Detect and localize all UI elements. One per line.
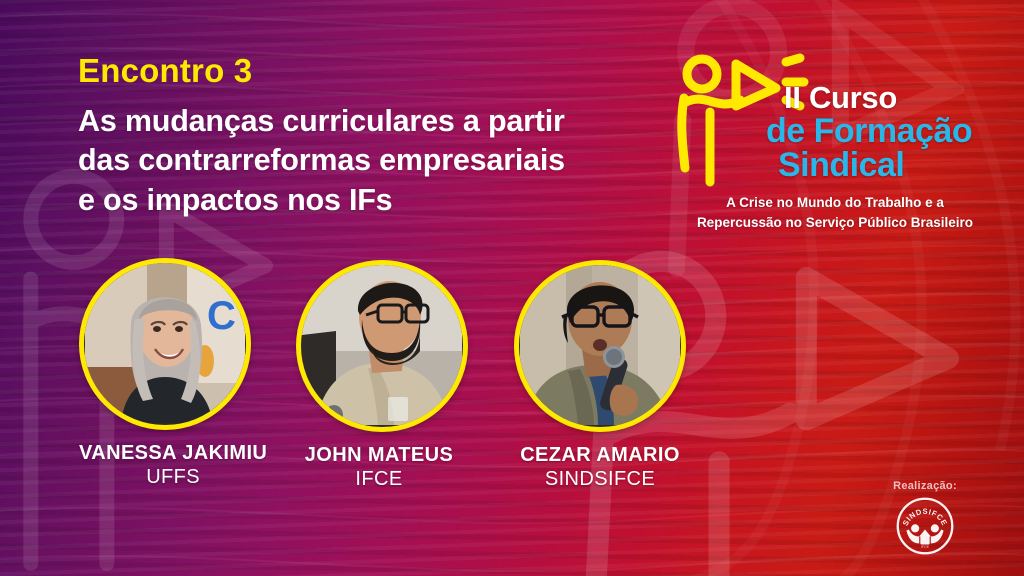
sindsifce-arc-text: SINDSIFCE — [901, 507, 950, 528]
speaker-card: JOHN MATEUS IFCE — [296, 260, 468, 491]
logo-line-3: Sindical — [778, 148, 1004, 183]
sindsifce-emblem-icon: SINDSIFCE IFCE — [896, 497, 954, 555]
course-subtitle-line-2: Repercussão no Serviço Público Brasileir… — [670, 213, 1000, 233]
speaker-photo-vanessa: C — [85, 263, 245, 423]
logo-line-1: II Curso — [784, 82, 1004, 114]
speaker-org: UFFS — [79, 466, 267, 489]
speaker-card: C — [79, 258, 267, 489]
title-line-1: As mudanças curriculares a partir — [78, 102, 618, 142]
page-title: As mudanças curriculares a partir das co… — [78, 102, 618, 221]
speaker-name: JOHN MATEUS — [293, 444, 465, 467]
realization-block: Realização: SINDSIFCE IFCE — [850, 480, 1000, 560]
speaker-name: VANESSA JAKIMIU — [79, 442, 267, 465]
eyebrow-encontro: Encontro 3 — [78, 54, 618, 89]
event-poster: Encontro 3 As mudanças curriculares a pa… — [0, 0, 1024, 576]
avatar — [514, 260, 686, 432]
course-subtitle-line-1: A Crise no Mundo do Trabalho e a — [670, 193, 1000, 213]
svg-text:C: C — [207, 294, 236, 338]
speaker-card: CEZAR AMARIO SINDSIFCE — [514, 260, 686, 491]
svg-text:SINDSIFCE: SINDSIFCE — [901, 507, 950, 528]
speaker-name: CEZAR AMARIO — [514, 444, 686, 467]
speaker-org: SINDSIFCE — [514, 468, 686, 491]
avatar — [296, 260, 468, 432]
logo-line-2: de Formação — [766, 114, 1004, 149]
course-subtitle: A Crise no Mundo do Trabalho e a Repercu… — [670, 193, 1000, 232]
title-line-2: das contrarreformas empresariais — [78, 141, 618, 181]
svg-text:IFCE: IFCE — [921, 545, 930, 549]
course-logo-wordmark: II Curso de Formação Sindical — [784, 82, 1004, 183]
avatar: C — [79, 258, 251, 430]
headline-block: Encontro 3 As mudanças curriculares a pa… — [78, 54, 618, 221]
title-line-3: e os impactos nos IFs — [78, 181, 618, 221]
speaker-photo-john — [302, 265, 462, 425]
speaker-org: IFCE — [293, 468, 465, 491]
realization-label: Realização: — [850, 480, 1000, 492]
speaker-photo-cezar — [520, 265, 680, 425]
speaker-list: C — [0, 258, 700, 488]
